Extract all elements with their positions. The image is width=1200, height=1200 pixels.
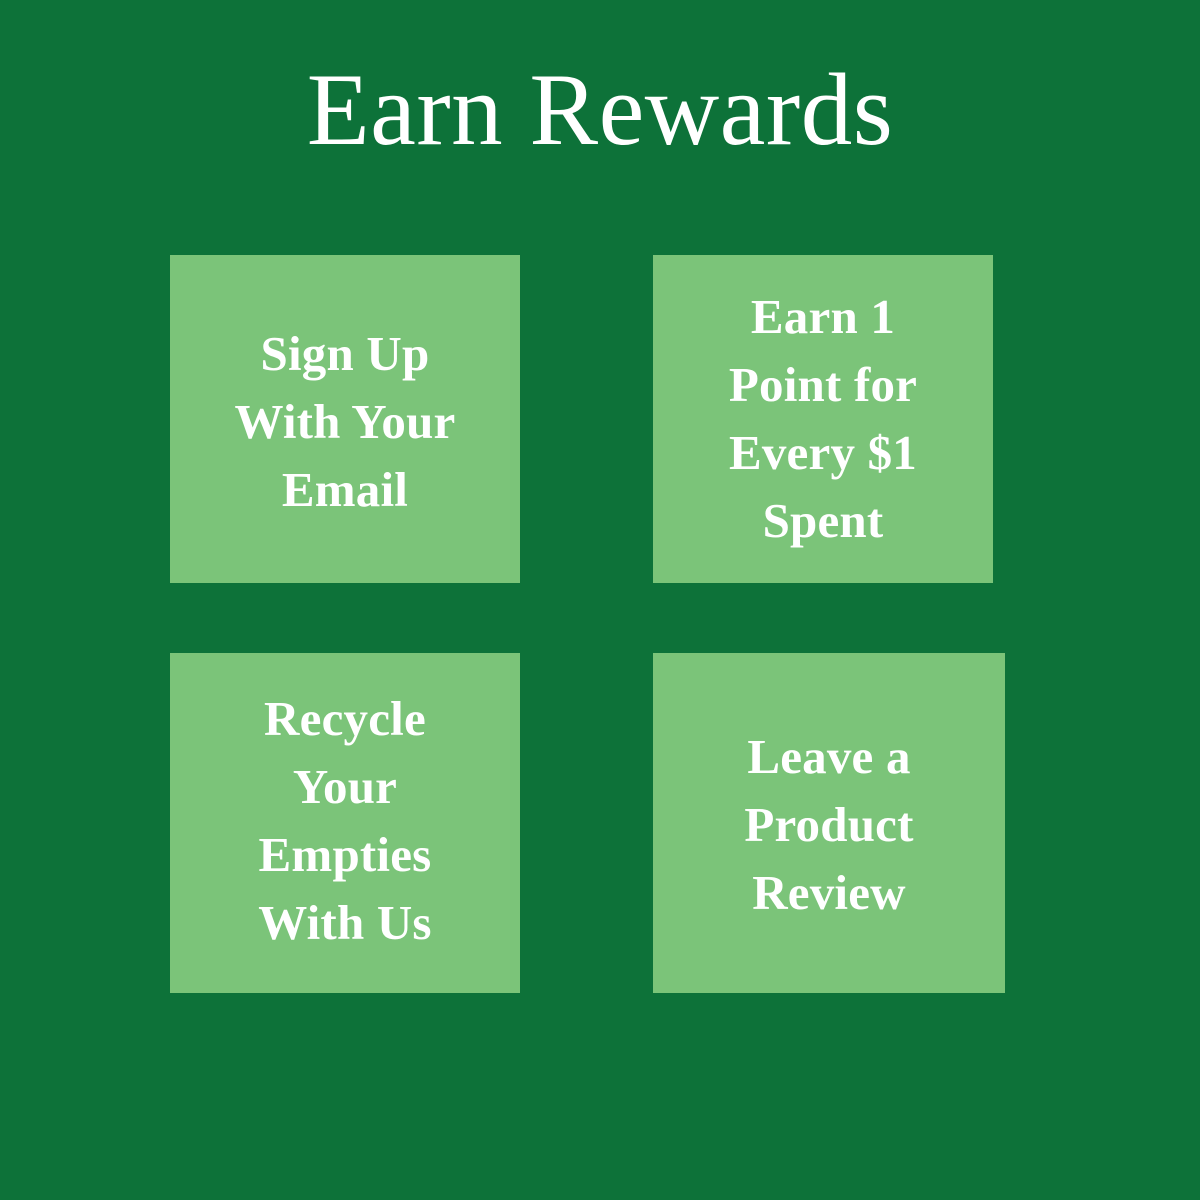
reward-card-sign-up-with-email[interactable]: Sign Up With Your Email <box>170 255 520 583</box>
reward-card-label: Recycle Your Empties With Us <box>258 685 431 957</box>
reward-card-label: Earn 1 Point for Every $1 Spent <box>729 283 917 555</box>
reward-card-label: Sign Up With Your Email <box>235 320 456 524</box>
reward-card-leave-product-review[interactable]: Leave a Product Review <box>653 653 1005 993</box>
reward-card-label: Leave a Product Review <box>744 723 913 927</box>
page-title: Earn Rewards <box>0 58 1200 163</box>
reward-card-earn-one-point-per-dollar[interactable]: Earn 1 Point for Every $1 Spent <box>653 255 993 583</box>
rewards-poster: Earn Rewards Sign Up With Your Email Ear… <box>0 0 1200 1200</box>
reward-card-recycle-empties[interactable]: Recycle Your Empties With Us <box>170 653 520 993</box>
